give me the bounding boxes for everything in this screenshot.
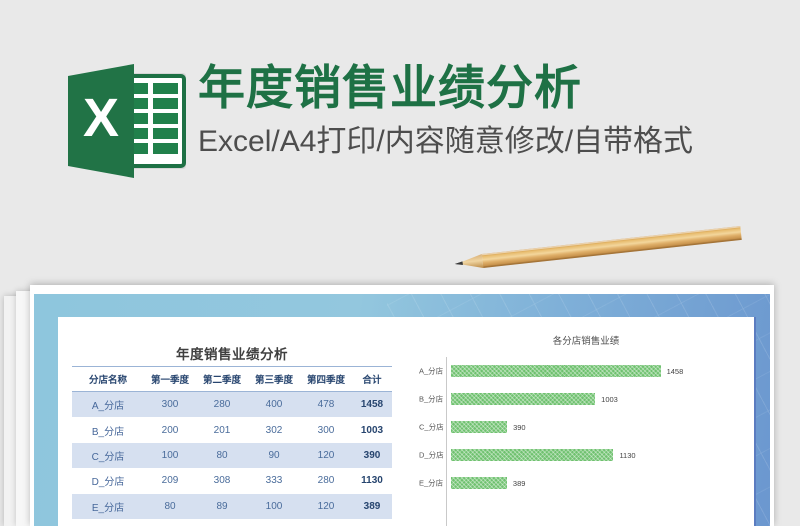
chart-bar-row: C_分店 390 (451, 413, 756, 441)
cell-q3: 90 (248, 443, 300, 468)
chart-title: 各分店销售业绩 (416, 333, 756, 347)
table-row[interactable]: E_分店 80 89 100 120 389 (72, 494, 392, 519)
chart-category-label: E_分店 (419, 478, 449, 489)
cell-q2: 280 (196, 392, 248, 418)
column-header-q3: 第三季度 (248, 367, 300, 392)
cell-q2: 100 (196, 519, 248, 526)
cell-branch-name: B_分店 (72, 417, 144, 442)
excel-logo-icon: X (62, 62, 194, 180)
cell-total: 390 (352, 443, 392, 468)
cell-total: 1003 (352, 417, 392, 442)
chart-value-label: 1003 (601, 395, 618, 404)
chart-bar[interactable] (451, 449, 613, 461)
table-row[interactable]: C_分店 100 80 90 120 390 (72, 443, 392, 468)
table-header-row: 分店名称 第一季度 第二季度 第三季度 第四季度 合计 (72, 367, 392, 392)
column-header-total: 合计 (352, 367, 392, 392)
sales-bar-chart[interactable]: 各分店销售业绩 A_分店 1458 B_分店 1003 C_分店 390 (416, 327, 756, 526)
cell-q2: 201 (196, 417, 248, 442)
cell-q1: 300 (144, 392, 196, 418)
chart-category-label: C_分店 (419, 422, 449, 433)
table-row[interactable]: D_分店 209 308 333 280 1130 (72, 468, 392, 493)
cell-branch-name: A_分店 (72, 392, 144, 418)
table-title: 年度销售业绩分析 (72, 343, 392, 363)
chart-bar[interactable] (451, 477, 507, 489)
sales-table: 分店名称 第一季度 第二季度 第三季度 第四季度 合计 A_分店 300 280… (72, 366, 392, 526)
cell-q1: 100 (144, 443, 196, 468)
cell-q3: 400 (248, 392, 300, 418)
page-subtitle: Excel/A4打印/内容随意修改/自带格式 (198, 122, 778, 162)
excel-logo-svg: X (62, 62, 194, 180)
cell-q3: 302 (248, 417, 300, 442)
chart-value-label: 389 (513, 479, 526, 488)
chart-bar[interactable] (451, 365, 661, 377)
header-banner: X 年度销售业绩分析 Excel/A4打印/内容随意修改/自带格式 (0, 0, 800, 258)
chart-category-label: A_分店 (419, 366, 449, 377)
cell-q4: 300 (300, 417, 352, 442)
spreadsheet-document: 年度销售业绩分析 分店名称 第一季度 第二季度 第三季度 第四季度 合计 (30, 285, 774, 526)
title-block: 年度销售业绩分析 Excel/A4打印/内容随意修改/自带格式 (198, 58, 778, 162)
chart-bar-row: D_分店 1130 (451, 441, 756, 469)
cell-q1: 200 (144, 417, 196, 442)
column-header-name: 分店名称 (72, 367, 144, 392)
chart-bar-row: E_分店 389 (451, 469, 756, 497)
cell-q3: 100 (248, 494, 300, 519)
chart-bar[interactable] (451, 393, 595, 405)
chart-value-label: 1458 (667, 367, 684, 376)
cell-total: 1130 (352, 468, 392, 493)
chart-value-label: 1130 (619, 451, 635, 460)
cell-q2: 89 (196, 494, 248, 519)
column-header-q2: 第二季度 (196, 367, 248, 392)
chart-bar-row: A_分店 1458 (451, 357, 756, 385)
cell-q4: 180 (300, 519, 352, 526)
column-header-q1: 第一季度 (144, 367, 196, 392)
cell-branch-name: C_分店 (72, 443, 144, 468)
cell-q3: 333 (248, 468, 300, 493)
cell-q4: 478 (300, 392, 352, 418)
cell-q3: 200 (248, 519, 300, 526)
document-page: 年度销售业绩分析 分店名称 第一季度 第二季度 第三季度 第四季度 合计 (58, 317, 756, 526)
cell-q4: 280 (300, 468, 352, 493)
chart-category-label: D_分店 (419, 450, 449, 461)
cell-q1: 80 (144, 494, 196, 519)
table-row[interactable]: F_分店 90 100 200 180 570 (72, 519, 392, 526)
column-header-q4: 第四季度 (300, 367, 352, 392)
sales-table-area: 年度销售业绩分析 分店名称 第一季度 第二季度 第三季度 第四季度 合计 (72, 343, 392, 526)
cell-q4: 120 (300, 494, 352, 519)
cell-branch-name: E_分店 (72, 494, 144, 519)
chart-category-label: B_分店 (419, 394, 449, 405)
chart-value-label: 390 (513, 423, 526, 432)
cell-q4: 120 (300, 443, 352, 468)
table-row[interactable]: B_分店 200 201 302 300 1003 (72, 417, 392, 442)
cell-q2: 80 (196, 443, 248, 468)
page-title: 年度销售业绩分析 (198, 58, 778, 118)
logo-letter: X (83, 88, 119, 148)
cell-branch-name: F_分店 (72, 519, 144, 526)
chart-plot-area: A_分店 1458 B_分店 1003 C_分店 390 D_分店 (446, 357, 756, 526)
cell-q2: 308 (196, 468, 248, 493)
cell-total: 1458 (352, 392, 392, 418)
cell-total: 570 (352, 519, 392, 526)
cell-q1: 90 (144, 519, 196, 526)
table-row[interactable]: A_分店 300 280 400 478 1458 (72, 392, 392, 418)
cell-q1: 209 (144, 468, 196, 493)
cell-total: 389 (352, 494, 392, 519)
cell-branch-name: D_分店 (72, 468, 144, 493)
chart-bar-row: B_分店 1003 (451, 385, 756, 413)
chart-bar[interactable] (451, 421, 507, 433)
